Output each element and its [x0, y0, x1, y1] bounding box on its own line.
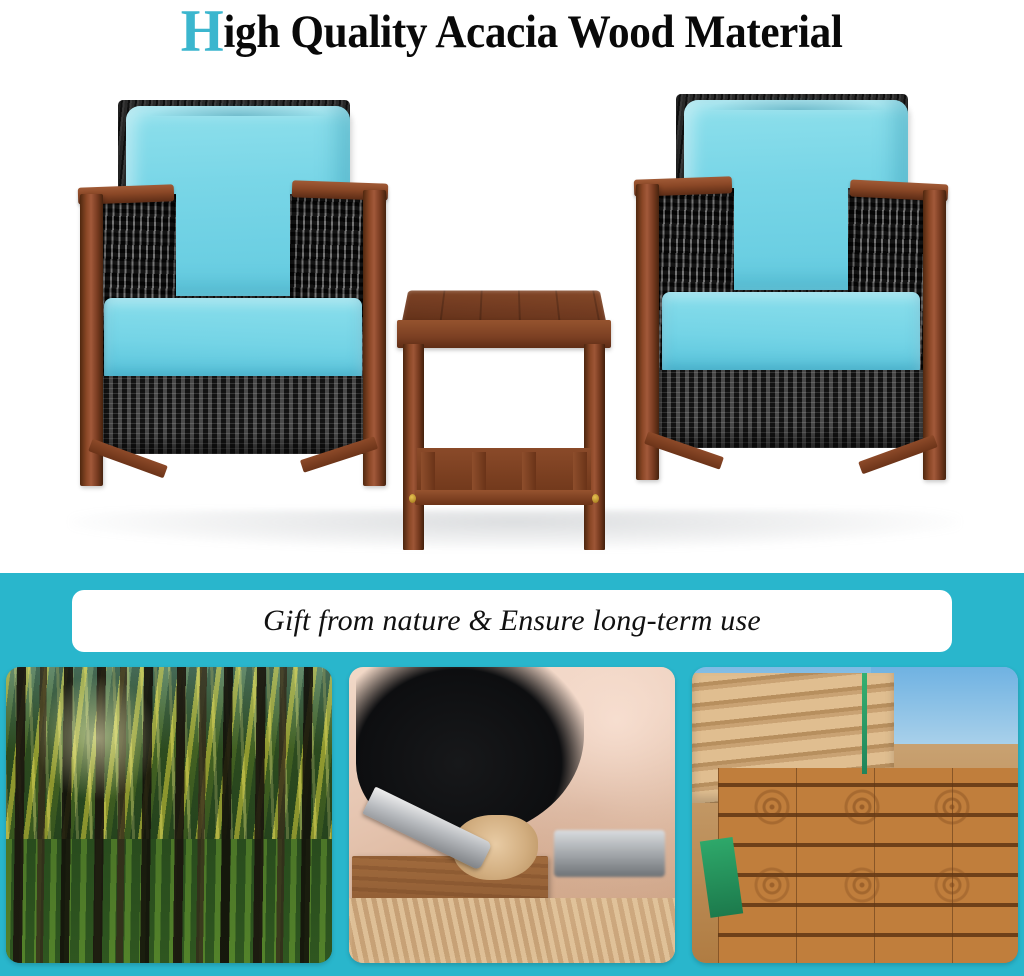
side-table — [395, 280, 613, 550]
table-leg-right — [584, 344, 605, 550]
base-wicker-panel — [100, 376, 366, 454]
table-leg-left — [403, 344, 424, 550]
shelf-slat — [472, 452, 486, 492]
shelf-slat — [421, 452, 435, 492]
title-drop-cap: H — [181, 0, 224, 64]
sunlight-glow — [32, 673, 162, 803]
seat-cushion — [662, 292, 920, 374]
table-apron — [397, 320, 611, 348]
hand-plane-tool — [554, 830, 665, 877]
page-title: High Quality Acacia Wood Material — [0, 0, 1024, 62]
tagline-text: Gift from nature & Ensure long-term use — [263, 604, 761, 638]
end-grain-stack — [868, 697, 1018, 768]
product-infographic: High Quality Acacia Wood Material — [0, 0, 1024, 976]
table-shelf-rail — [415, 490, 593, 505]
shelf-slat — [522, 452, 536, 492]
feature-panel-row — [0, 667, 1024, 963]
title-remainder: igh Quality Acacia Wood Material — [224, 6, 843, 58]
base-wicker-panel — [658, 370, 924, 448]
wood-shavings — [349, 898, 675, 963]
brass-screw-right — [592, 494, 599, 503]
hero-product-photo — [0, 58, 1024, 573]
title-text: High Quality Acacia Wood Material — [181, 7, 843, 56]
left-armchair — [66, 86, 396, 501]
green-strap-top — [862, 673, 867, 774]
seat-cushion — [104, 298, 362, 380]
brass-screw-left — [409, 494, 416, 503]
tagline-box: Gift from nature & Ensure long-term use — [72, 590, 952, 652]
lumber-panel — [692, 667, 1018, 963]
growth-rings — [718, 768, 1018, 963]
woodworking-panel — [349, 667, 675, 963]
forest-panel — [6, 667, 332, 963]
shelf-slat — [573, 452, 587, 492]
right-armchair — [624, 80, 954, 495]
teal-feature-section: Gift from nature & Ensure long-term use — [0, 573, 1024, 976]
table-shelf-slats — [417, 452, 591, 492]
